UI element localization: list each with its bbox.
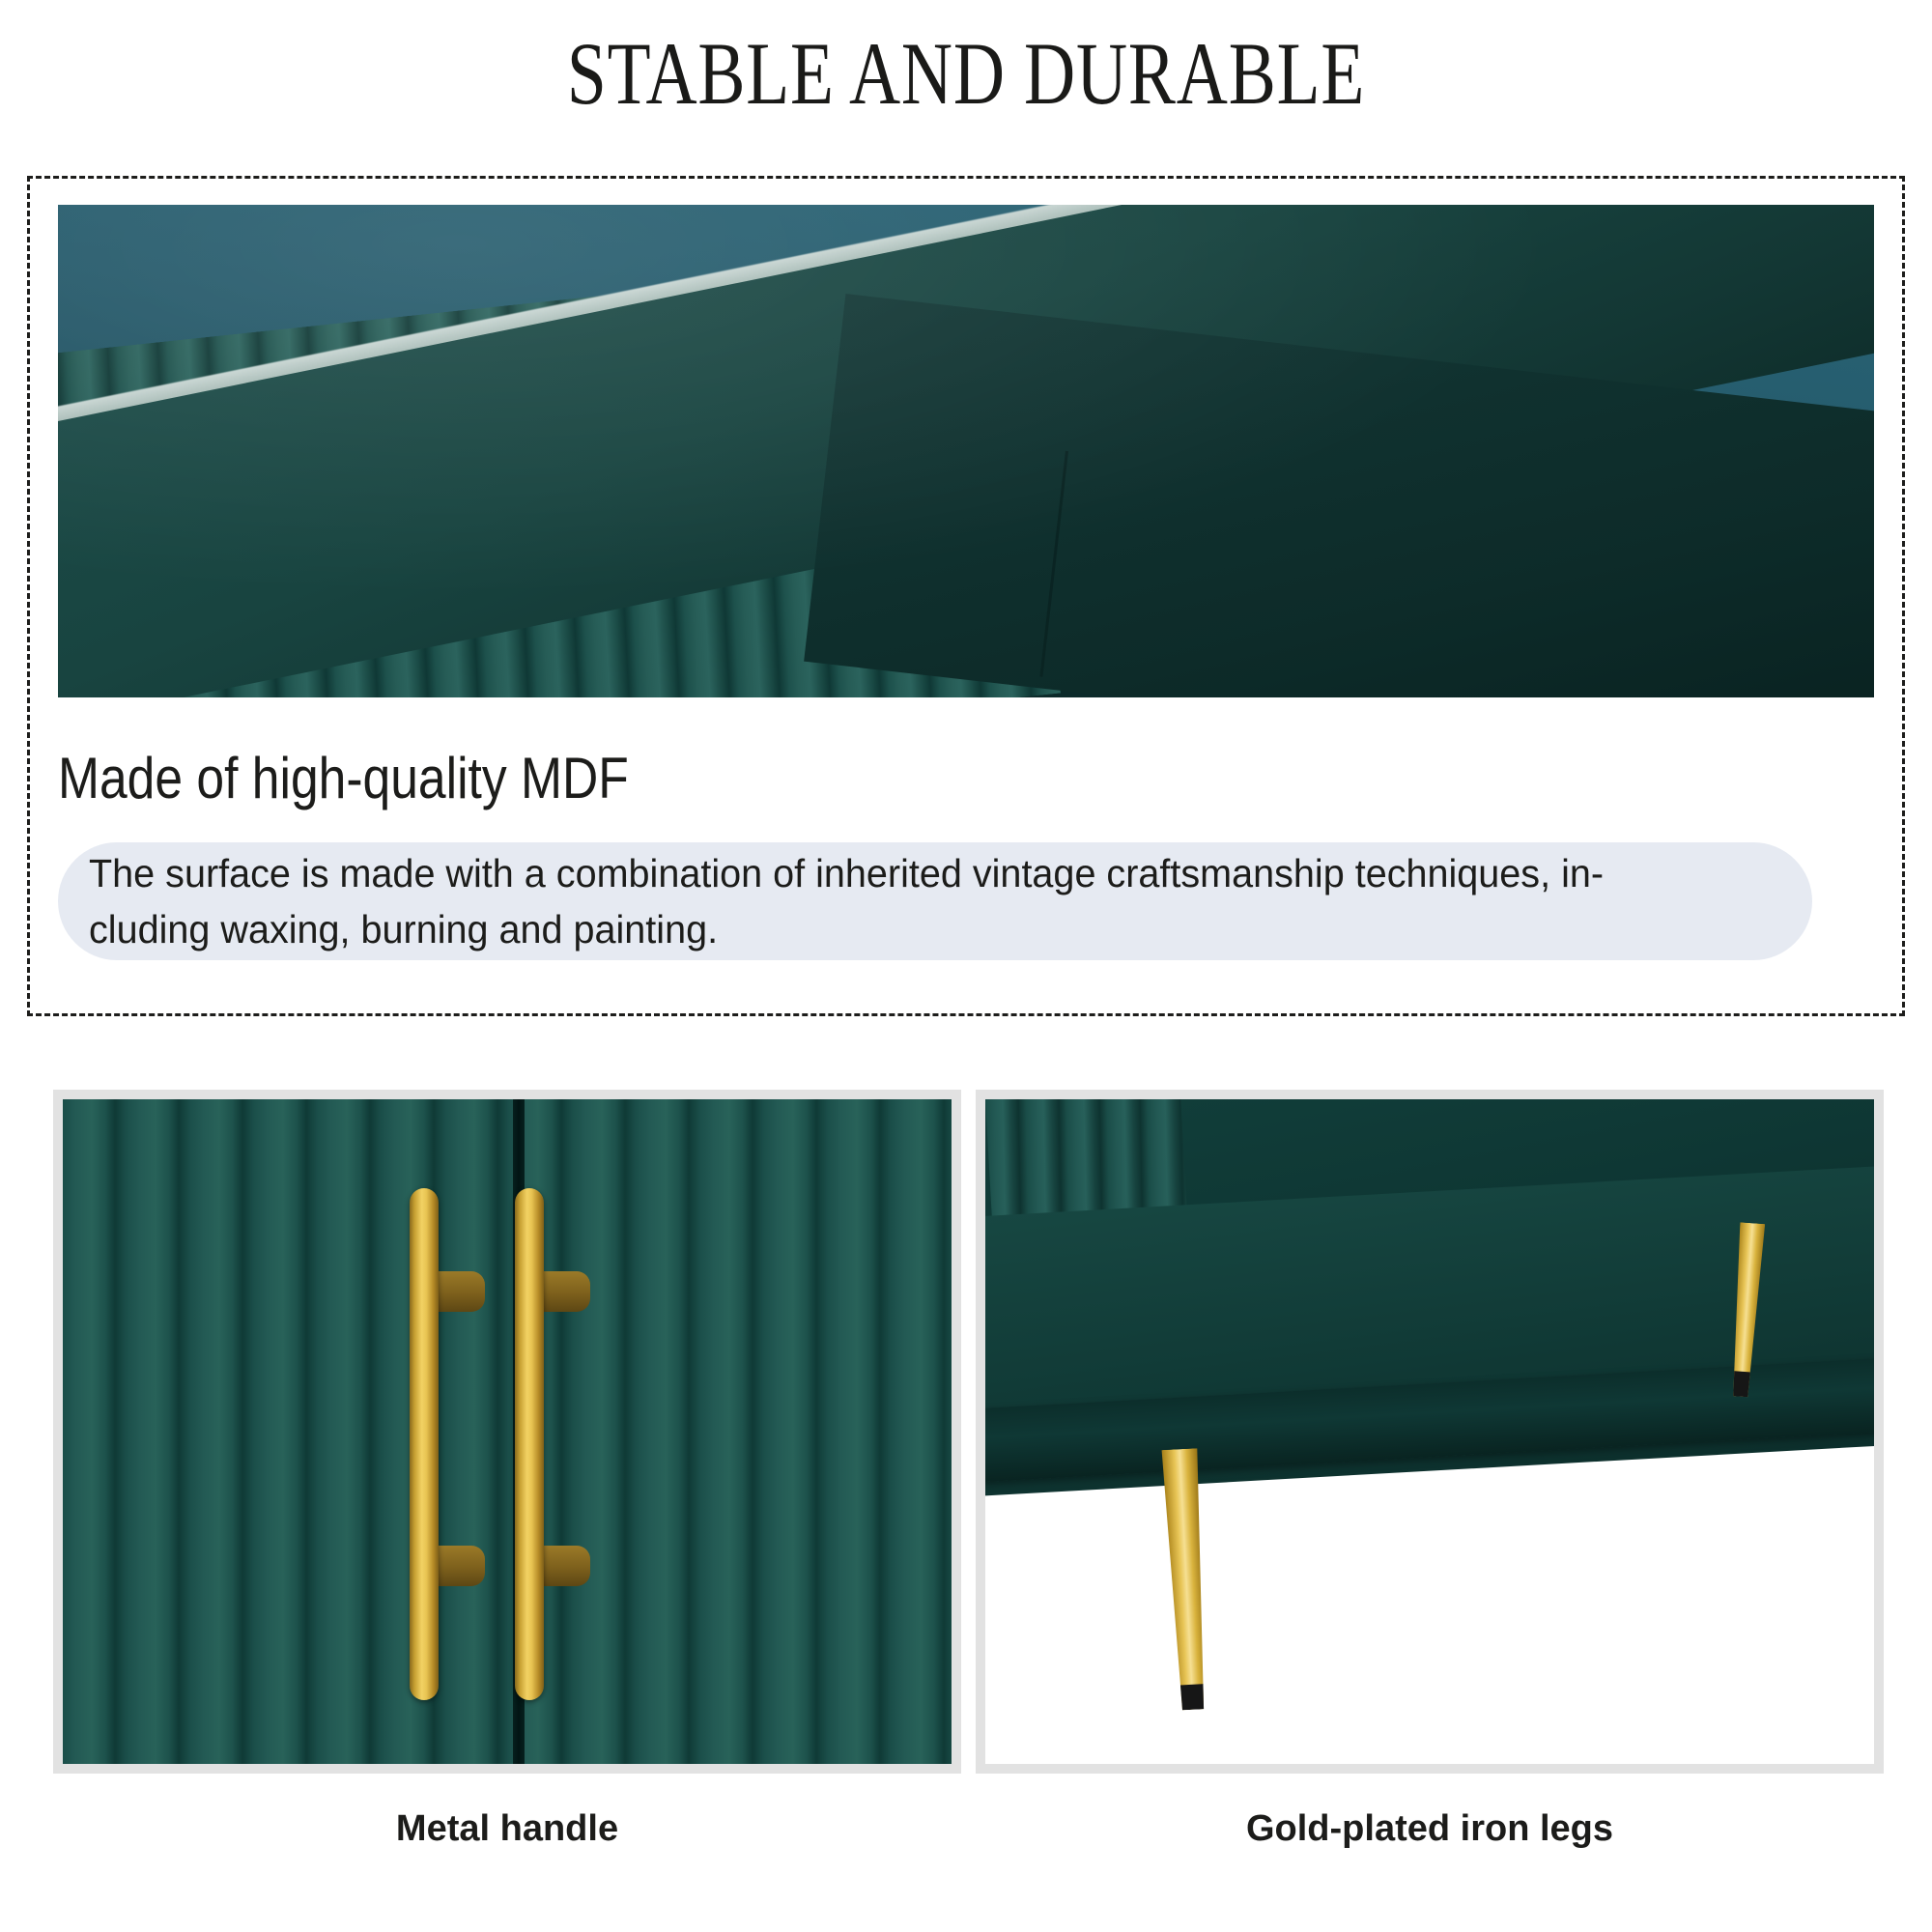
metal-handle-photo bbox=[63, 1099, 952, 1764]
handle-mount-post bbox=[435, 1546, 485, 1586]
handle-mount-post bbox=[435, 1271, 485, 1312]
section-headline: Made of high-quality MDF bbox=[58, 750, 629, 808]
description-pill: The surface is made with a combination o… bbox=[58, 842, 1812, 960]
leg-foot-cap bbox=[1170, 1684, 1215, 1711]
gold-bar-handle bbox=[410, 1188, 439, 1700]
cabinet-lower-corner bbox=[985, 1099, 1874, 1764]
page-title: STABLE AND DURABLE bbox=[193, 27, 1739, 121]
handle-mount-post bbox=[540, 1271, 590, 1312]
description-text: The surface is made with a combination o… bbox=[89, 845, 1604, 957]
hero-product-photo bbox=[58, 205, 1874, 697]
fluted-cabinet-doors bbox=[63, 1099, 952, 1764]
caption-metal-handle: Metal handle bbox=[53, 1808, 961, 1850]
handle-mount-post bbox=[540, 1546, 590, 1586]
detail-card-metal-handle bbox=[53, 1090, 961, 1774]
detail-card-gold-legs bbox=[976, 1090, 1884, 1774]
gold-plated-leg-front bbox=[1157, 1448, 1215, 1711]
gold-bar-handle bbox=[515, 1188, 544, 1700]
caption-gold-legs: Gold-plated iron legs bbox=[976, 1808, 1884, 1850]
gold-legs-photo bbox=[985, 1099, 1874, 1764]
